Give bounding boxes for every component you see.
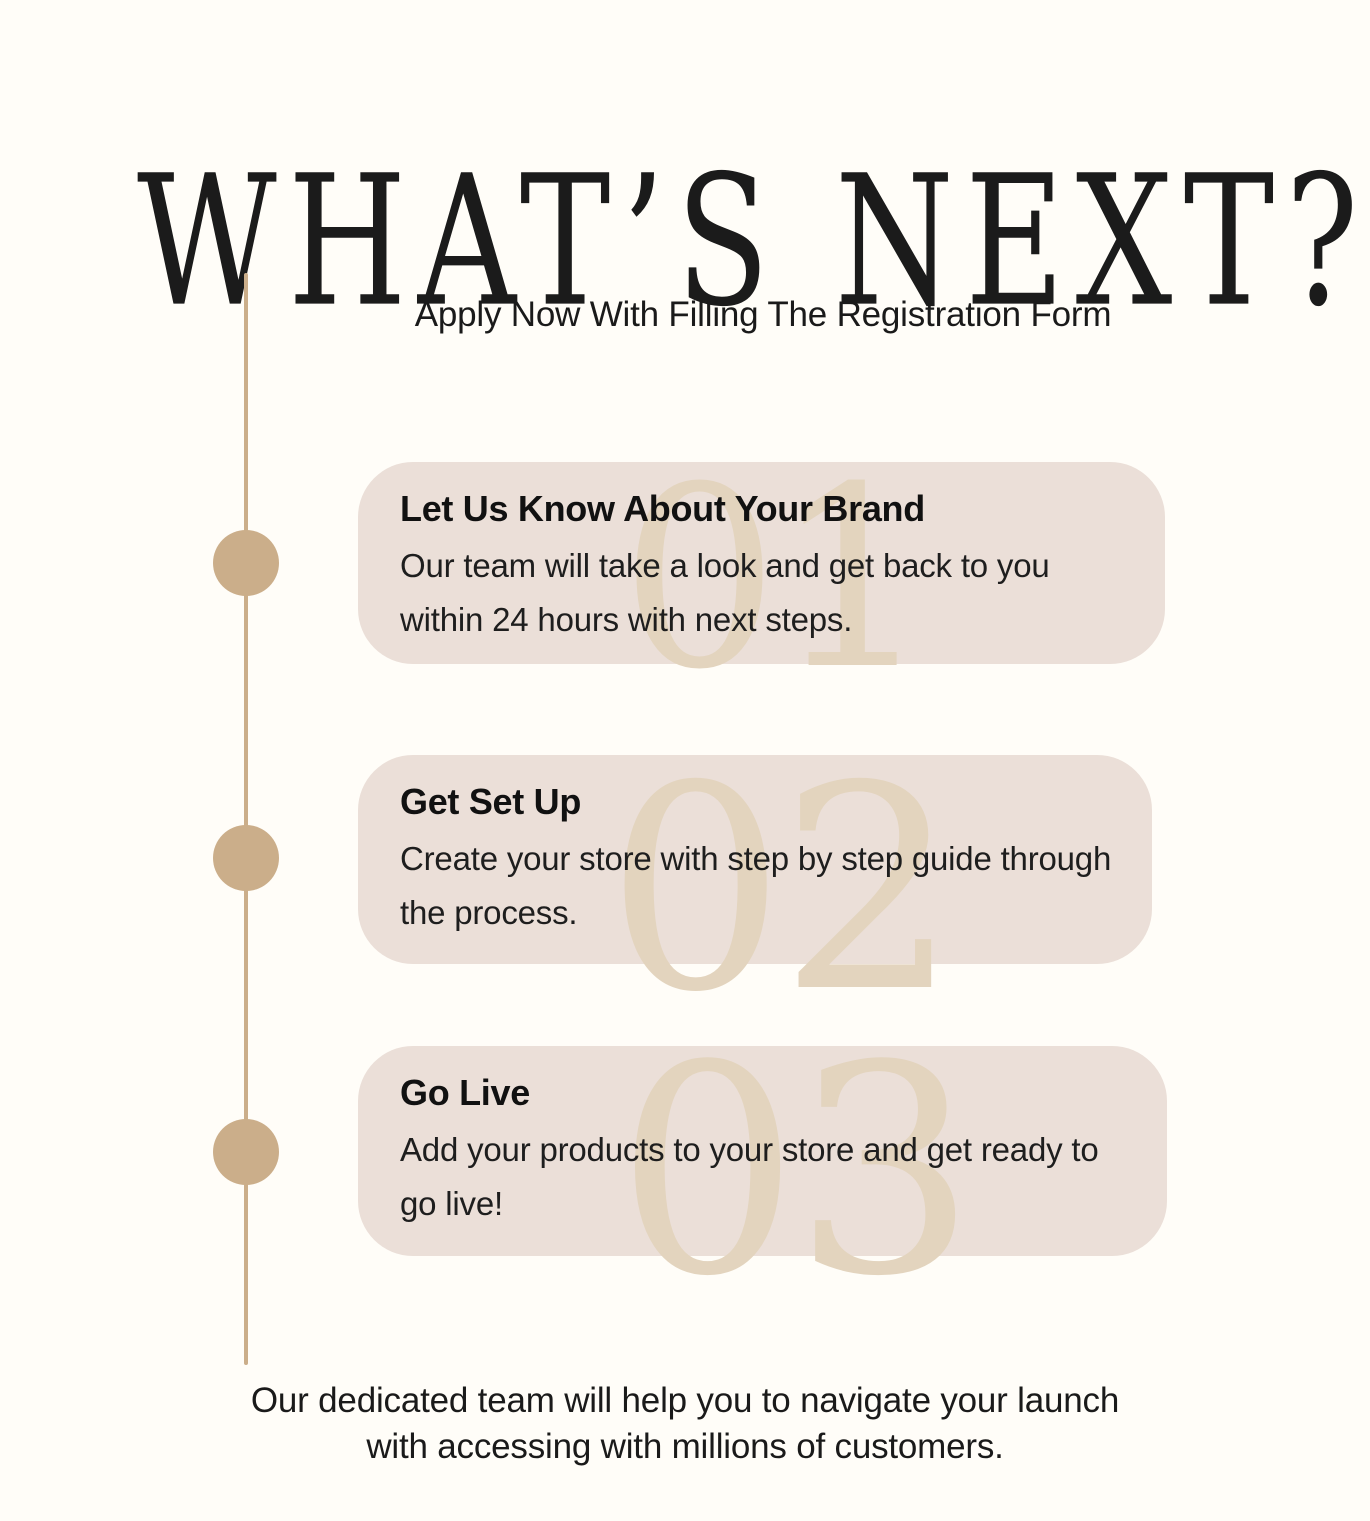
step-card-2-body: Get Set Up Create your store with step b… (358, 755, 1152, 939)
whats-next-section: WHAT’S NEXT? Apply Now With Filling The … (0, 0, 1370, 1521)
subtitle-text: Apply Now With Filling The Registration … (358, 292, 1168, 338)
step-card-3[interactable]: 03 Go Live Add your products to your sto… (358, 1046, 1167, 1256)
timeline-dot-step-1 (213, 530, 279, 596)
step-description-3: Add your products to your store and get … (400, 1123, 1127, 1230)
step-description-2: Create your store with step by step guid… (400, 832, 1112, 939)
timeline-dot-step-2 (213, 825, 279, 891)
step-card-1[interactable]: 01 Let Us Know About Your Brand Our team… (358, 462, 1165, 664)
step-title-3: Go Live (400, 1072, 1127, 1113)
footer-text: Our dedicated team will help you to navi… (120, 1378, 1250, 1470)
step-card-1-body: Let Us Know About Your Brand Our team wi… (358, 462, 1165, 646)
footer-line-1: Our dedicated team will help you to navi… (120, 1378, 1250, 1424)
timeline-dot-step-3 (213, 1119, 279, 1185)
timeline-vertical-line (244, 273, 248, 1365)
footer-line-2: with accessing with millions of customer… (120, 1424, 1250, 1470)
step-card-3-body: Go Live Add your products to your store … (358, 1046, 1167, 1230)
step-card-2[interactable]: 02 Get Set Up Create your store with ste… (358, 755, 1152, 964)
step-description-1: Our team will take a look and get back t… (400, 539, 1125, 646)
step-title-1: Let Us Know About Your Brand (400, 488, 1125, 529)
step-title-2: Get Set Up (400, 781, 1112, 822)
